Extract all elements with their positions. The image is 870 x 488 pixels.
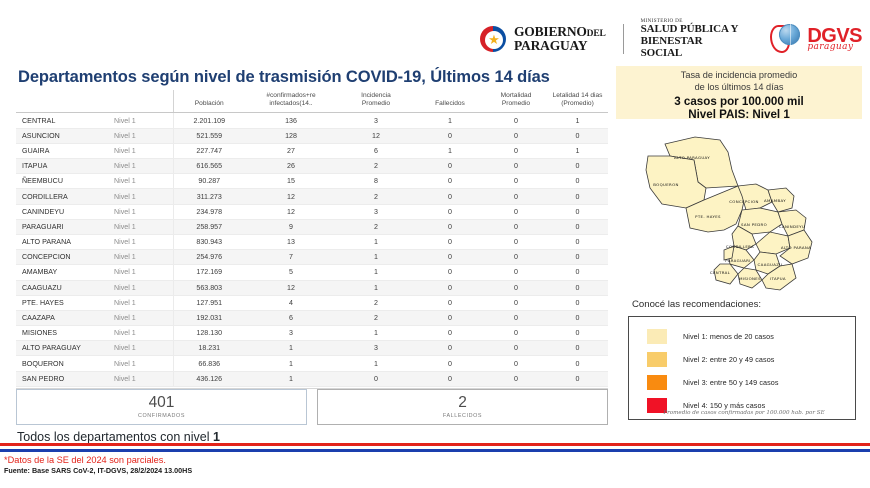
- table-header-row: Población #confirmados+reinfectados(14..…: [16, 90, 608, 113]
- cell-nivel: Nivel 1: [111, 326, 173, 341]
- cell-poblacion: 830.943: [173, 234, 245, 249]
- legend-label-nivel-2: Nivel 2: entre 20 y 49 casos: [683, 355, 775, 364]
- table-row[interactable]: ALTO PARANANivel 1830.943131000: [16, 234, 608, 249]
- cell-department: BOQUERON: [16, 356, 111, 371]
- rate-cases-value: 3 casos por 100.000 mil: [616, 95, 862, 108]
- col-header-nivel: [111, 90, 173, 113]
- cell-confirmados: 128: [245, 128, 337, 143]
- gobierno-word: GOBIERNO: [514, 24, 587, 39]
- cell-mortalidad: 0: [485, 159, 547, 174]
- cell-fallecidos: 0: [415, 310, 485, 325]
- footer-note: *Datos de la SE del 2024 son parciales.: [4, 455, 870, 465]
- cell-letalidad: 0: [547, 356, 608, 371]
- map-label: CORDILLERA: [726, 244, 754, 249]
- cell-incidencia: 3: [337, 341, 415, 356]
- page-title: Departamentos según nivel de trasmisión …: [18, 68, 550, 87]
- cell-mortalidad: 0: [485, 143, 547, 158]
- cell-letalidad: 0: [547, 295, 608, 310]
- cell-incidencia: 2: [337, 310, 415, 325]
- cell-poblacion: 127.951: [173, 295, 245, 310]
- cell-mortalidad: 0: [485, 280, 547, 295]
- map-label: ALTO PARAGUAY: [674, 155, 710, 160]
- cell-confirmados: 13: [245, 234, 337, 249]
- col-header-poblacion: Población: [173, 90, 245, 113]
- rate-line1: Tasa de incidencia promedio: [616, 70, 862, 82]
- departments-table-container: Población #confirmados+reinfectados(14..…: [16, 90, 608, 389]
- cell-mortalidad: 0: [485, 341, 547, 356]
- cell-incidencia: 2: [337, 295, 415, 310]
- cell-incidencia: 1: [337, 265, 415, 280]
- legend-row: Nivel 1: menos de 20 casos: [647, 326, 855, 346]
- cell-confirmados: 1: [245, 371, 337, 386]
- map-label: PARAGUARI: [725, 258, 750, 263]
- cell-poblacion: 227.747: [173, 143, 245, 158]
- rate-line2: de los últimos 14 días: [616, 82, 862, 94]
- cell-department: PTE. HAYES: [16, 295, 111, 310]
- cell-department: PARAGUARI: [16, 219, 111, 234]
- table-row[interactable]: ASUNCIONNivel 1521.55912812000: [16, 128, 608, 143]
- cell-department: CANINDEYU: [16, 204, 111, 219]
- cell-letalidad: 0: [547, 234, 608, 249]
- cell-incidencia: 1: [337, 234, 415, 249]
- cell-department: SAN PEDRO: [16, 371, 111, 386]
- footer: *Datos de la SE del 2024 son parciales. …: [0, 452, 870, 488]
- departments-table: Población #confirmados+reinfectados(14..…: [16, 90, 608, 387]
- legend-label-nivel-4: Nivel 4: 150 y más casos: [683, 401, 765, 410]
- gobierno-del-word: DEL: [587, 29, 606, 39]
- cell-fallecidos: 0: [415, 219, 485, 234]
- summary-cards: 401 CONFIRMADOS 2 FALLECIDOS: [16, 389, 608, 425]
- cell-confirmados: 6: [245, 310, 337, 325]
- cell-incidencia: 1: [337, 356, 415, 371]
- cell-incidencia: 8: [337, 174, 415, 189]
- map-label: ITAPUA: [770, 276, 786, 281]
- col-header-department: [16, 90, 111, 113]
- map-label: CENTRAL: [710, 270, 731, 275]
- cell-confirmados: 12: [245, 204, 337, 219]
- cell-nivel: Nivel 1: [111, 295, 173, 310]
- table-row[interactable]: AMAMBAYNivel 1172.16951000: [16, 265, 608, 280]
- cell-fallecidos: 0: [415, 295, 485, 310]
- col-header-incidencia: IncidenciaPromedio: [337, 90, 415, 113]
- map-label: AMAMBAY: [764, 198, 786, 203]
- cell-mortalidad: 0: [485, 128, 547, 143]
- cell-mortalidad: 0: [485, 265, 547, 280]
- cell-mortalidad: 0: [485, 310, 547, 325]
- cell-department: ITAPUA: [16, 159, 111, 174]
- card-fallecidos: 2 FALLECIDOS: [317, 389, 608, 425]
- footer-source: Fuente: Base SARS CoV-2, IT-DGVS, 28/2/2…: [4, 466, 870, 475]
- cell-nivel: Nivel 1: [111, 356, 173, 371]
- cell-department: GUAIRA: [16, 143, 111, 158]
- all-departments-note: Todos los departamentos con nivel 1: [17, 430, 220, 444]
- cell-incidencia: 2: [337, 159, 415, 174]
- rate-country-level: Nivel PAIS: Nivel 1: [616, 108, 862, 121]
- cell-mortalidad: 0: [485, 219, 547, 234]
- cell-department: CAAZAPA: [16, 310, 111, 325]
- legend-swatch-nivel-1: [647, 329, 667, 344]
- cell-fallecidos: 0: [415, 174, 485, 189]
- cell-fallecidos: 0: [415, 250, 485, 265]
- cell-letalidad: 0: [547, 250, 608, 265]
- cell-department: ALTO PARAGUAY: [16, 341, 111, 356]
- table-row[interactable]: CAAGUAZUNivel 1563.803121000: [16, 280, 608, 295]
- cell-department: CENTRAL: [16, 113, 111, 128]
- cell-incidencia: 1: [337, 250, 415, 265]
- cell-poblacion: 616.565: [173, 159, 245, 174]
- table-row[interactable]: PARAGUARINivel 1258.95792000: [16, 219, 608, 234]
- cell-mortalidad: 0: [485, 189, 547, 204]
- map-label: BOQUERON: [653, 182, 679, 187]
- cell-mortalidad: 0: [485, 204, 547, 219]
- cell-poblacion: 234.978: [173, 204, 245, 219]
- cell-confirmados: 3: [245, 326, 337, 341]
- cell-poblacion: 18.231: [173, 341, 245, 356]
- cell-nivel: Nivel 1: [111, 189, 173, 204]
- legend-label-nivel-3: Nivel 3: entre 50 y 149 casos: [683, 378, 779, 387]
- cell-confirmados: 1: [245, 341, 337, 356]
- cell-incidencia: 3: [337, 113, 415, 128]
- cell-letalidad: 0: [547, 219, 608, 234]
- recommendations-heading: Conocé las recomendaciones:: [632, 299, 761, 310]
- cell-incidencia: 12: [337, 128, 415, 143]
- cell-fallecidos: 0: [415, 356, 485, 371]
- cell-poblacion: 90.287: [173, 174, 245, 189]
- cell-nivel: Nivel 1: [111, 128, 173, 143]
- cell-poblacion: 254.976: [173, 250, 245, 265]
- cell-nivel: Nivel 1: [111, 265, 173, 280]
- cell-department: AMAMBAY: [16, 265, 111, 280]
- col-header-confirmados: #confirmados+reinfectados(14..: [245, 90, 337, 113]
- cell-letalidad: 0: [547, 326, 608, 341]
- table-row[interactable]: ÑEEMBUCUNivel 190.287158000: [16, 174, 608, 189]
- cell-letalidad: 0: [547, 371, 608, 386]
- col-header-mortalidad: MortalidadPromedio: [485, 90, 547, 113]
- cell-poblacion: 258.957: [173, 219, 245, 234]
- legend-swatch-nivel-3: [647, 375, 667, 390]
- cell-fallecidos: 0: [415, 128, 485, 143]
- confirmados-label: CONFIRMADOS: [138, 413, 185, 419]
- paraguay-map: ALTO PARAGUAYBOQUERONCONCEPCIONAMAMBAYPT…: [620, 126, 862, 298]
- legend-swatch-nivel-2: [647, 352, 667, 367]
- cell-confirmados: 26: [245, 159, 337, 174]
- confirmados-value: 401: [149, 395, 175, 411]
- map-label: MISIONES: [739, 276, 761, 281]
- cell-nivel: Nivel 1: [111, 250, 173, 265]
- ministerio-line2: BIENESTAR SOCIAL: [641, 36, 745, 59]
- cell-incidencia: 1: [337, 280, 415, 295]
- cell-nivel: Nivel 1: [111, 219, 173, 234]
- cell-nivel: Nivel 1: [111, 341, 173, 356]
- cell-letalidad: 0: [547, 341, 608, 356]
- legend-row: Nivel 2: entre 20 y 49 casos: [647, 349, 855, 369]
- cell-incidencia: 0: [337, 371, 415, 386]
- cell-confirmados: 15: [245, 174, 337, 189]
- cell-poblacion: 172.169: [173, 265, 245, 280]
- table-row[interactable]: CAAZAPANivel 1192.03162000: [16, 310, 608, 325]
- cell-poblacion: 436.126: [173, 371, 245, 386]
- cell-department: CONCEPCION: [16, 250, 111, 265]
- map-label: PTE. HAYES: [695, 214, 721, 219]
- paraguay-emblem-icon: ★: [480, 25, 508, 53]
- header-logos: ★ GOBIERNODEL PARAGUAY MINISTERIO DE SAL…: [480, 16, 862, 62]
- cell-incidencia: 6: [337, 143, 415, 158]
- map-label: ALTO PARANA: [781, 245, 811, 250]
- cell-mortalidad: 0: [485, 234, 547, 249]
- gobierno-paraguay-logo: ★ GOBIERNODEL PARAGUAY: [480, 25, 606, 53]
- levels-legend: Nivel 1: menos de 20 casosNivel 2: entre…: [628, 316, 856, 420]
- col-header-fallecidos: Fallecidos: [415, 90, 485, 113]
- dgvs-globe-icon: [770, 23, 804, 55]
- fallecidos-label: FALLECIDOS: [443, 413, 482, 419]
- cell-confirmados: 5: [245, 265, 337, 280]
- cell-poblacion: 563.803: [173, 280, 245, 295]
- cell-incidencia: 2: [337, 189, 415, 204]
- table-row[interactable]: GUAIRANivel 1227.747276101: [16, 143, 608, 158]
- cell-incidencia: 2: [337, 219, 415, 234]
- cell-poblacion: 311.273: [173, 189, 245, 204]
- map-label: CANINDEYU: [779, 224, 805, 229]
- map-label: CONCEPCION: [729, 199, 759, 204]
- cell-letalidad: 0: [547, 174, 608, 189]
- cell-nivel: Nivel 1: [111, 113, 173, 128]
- cell-poblacion: 66.836: [173, 356, 245, 371]
- cell-fallecidos: 0: [415, 159, 485, 174]
- all-departments-text: Todos los departamentos con nivel: [17, 430, 213, 444]
- cell-incidencia: 1: [337, 326, 415, 341]
- cell-letalidad: 1: [547, 143, 608, 158]
- cell-poblacion: 128.130: [173, 326, 245, 341]
- map-region-caaguazu: [756, 232, 790, 254]
- cell-mortalidad: 0: [485, 295, 547, 310]
- cell-letalidad: 1: [547, 113, 608, 128]
- legend-label-nivel-1: Nivel 1: menos de 20 casos: [683, 332, 774, 341]
- table-row[interactable]: CORDILLERANivel 1311.273122000: [16, 189, 608, 204]
- fallecidos-value: 2: [458, 395, 467, 411]
- cell-fallecidos: 0: [415, 326, 485, 341]
- table-row[interactable]: SAN PEDRONivel 1436.12610000: [16, 371, 608, 386]
- cell-fallecidos: 1: [415, 113, 485, 128]
- cell-confirmados: 12: [245, 280, 337, 295]
- table-row[interactable]: MISIONESNivel 1128.13031000: [16, 326, 608, 341]
- cell-nivel: Nivel 1: [111, 143, 173, 158]
- cell-mortalidad: 0: [485, 113, 547, 128]
- cell-incidencia: 3: [337, 204, 415, 219]
- flag-stripes: [0, 443, 870, 452]
- cell-confirmados: 27: [245, 143, 337, 158]
- cell-nivel: Nivel 1: [111, 204, 173, 219]
- legend-footnote: Promedio de casos confirmadas por 100.00…: [635, 410, 853, 416]
- cell-fallecidos: 0: [415, 371, 485, 386]
- cell-department: CORDILLERA: [16, 189, 111, 204]
- cell-mortalidad: 0: [485, 250, 547, 265]
- cell-mortalidad: 0: [485, 371, 547, 386]
- cell-confirmados: 1: [245, 356, 337, 371]
- cell-poblacion: 2.201.109: [173, 113, 245, 128]
- dgvs-logo: DGVS paraguay: [770, 23, 862, 55]
- cell-letalidad: 0: [547, 310, 608, 325]
- logo-divider: [623, 24, 624, 54]
- table-row[interactable]: CENTRALNivel 12.201.1091363101: [16, 113, 608, 128]
- cell-mortalidad: 0: [485, 356, 547, 371]
- cell-poblacion: 192.031: [173, 310, 245, 325]
- table-row[interactable]: ITAPUANivel 1616.565262000: [16, 159, 608, 174]
- cell-department: MISIONES: [16, 326, 111, 341]
- all-departments-level: 1: [213, 430, 220, 444]
- cell-fallecidos: 0: [415, 189, 485, 204]
- cell-fallecidos: 0: [415, 280, 485, 295]
- table-row[interactable]: PTE. HAYESNivel 1127.95142000: [16, 295, 608, 310]
- cell-department: ÑEEMBUCU: [16, 174, 111, 189]
- cell-fallecidos: 0: [415, 341, 485, 356]
- incidence-rate-box: Tasa de incidencia promedio de los últim…: [616, 66, 862, 119]
- cell-letalidad: 0: [547, 204, 608, 219]
- departments-table-body: CENTRALNivel 12.201.1091363101ASUNCIONNi…: [16, 113, 608, 386]
- cell-department: ALTO PARANA: [16, 234, 111, 249]
- col-header-letalidad: Letalidad 14 dias(Promedio): [547, 90, 608, 113]
- cell-department: CAAGUAZU: [16, 280, 111, 295]
- cell-letalidad: 0: [547, 189, 608, 204]
- paraguay-word: PARAGUAY: [514, 39, 606, 53]
- cell-confirmados: 12: [245, 189, 337, 204]
- table-row[interactable]: BOQUERONNivel 166.83611000: [16, 356, 608, 371]
- cell-nivel: Nivel 1: [111, 174, 173, 189]
- map-label: CAAGUAZU: [758, 262, 783, 267]
- cell-nivel: Nivel 1: [111, 234, 173, 249]
- cell-confirmados: 4: [245, 295, 337, 310]
- cell-letalidad: 0: [547, 159, 608, 174]
- cell-fallecidos: 0: [415, 204, 485, 219]
- cell-confirmados: 9: [245, 219, 337, 234]
- cell-mortalidad: 0: [485, 174, 547, 189]
- cell-fallecidos: 1: [415, 143, 485, 158]
- legend-row: Nivel 3: entre 50 y 149 casos: [647, 372, 855, 392]
- cell-fallecidos: 0: [415, 265, 485, 280]
- table-row[interactable]: ALTO PARAGUAYNivel 118.23113000: [16, 341, 608, 356]
- cell-poblacion: 521.559: [173, 128, 245, 143]
- cell-nivel: Nivel 1: [111, 371, 173, 386]
- cell-mortalidad: 0: [485, 326, 547, 341]
- table-row[interactable]: CANINDEYUNivel 1234.978123000: [16, 204, 608, 219]
- slide-root: ★ GOBIERNODEL PARAGUAY MINISTERIO DE SAL…: [0, 0, 870, 488]
- map-label: SAN PEDRO: [741, 222, 767, 227]
- cell-nivel: Nivel 1: [111, 159, 173, 174]
- table-row[interactable]: CONCEPCIONNivel 1254.97671000: [16, 250, 608, 265]
- cell-letalidad: 0: [547, 280, 608, 295]
- cell-nivel: Nivel 1: [111, 310, 173, 325]
- card-confirmados: 401 CONFIRMADOS: [16, 389, 307, 425]
- ministerio-salud-logo: MINISTERIO DE SALUD PÚBLICA Y BIENESTAR …: [641, 19, 745, 59]
- cell-department: ASUNCION: [16, 128, 111, 143]
- cell-confirmados: 7: [245, 250, 337, 265]
- cell-letalidad: 0: [547, 265, 608, 280]
- cell-fallecidos: 0: [415, 234, 485, 249]
- cell-nivel: Nivel 1: [111, 280, 173, 295]
- cell-confirmados: 136: [245, 113, 337, 128]
- cell-letalidad: 0: [547, 128, 608, 143]
